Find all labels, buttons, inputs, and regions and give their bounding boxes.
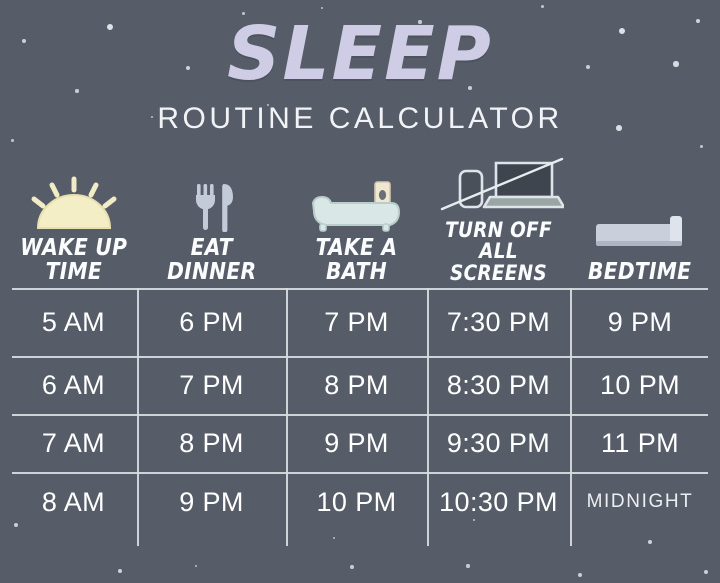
table-row: 5 AM 6 PM 7 PM 7:30 PM 9 PM <box>10 288 710 356</box>
table-cell: 7 PM <box>286 288 427 356</box>
table-cell: 6 PM <box>137 288 286 356</box>
table-cell: 8:30 PM <box>427 356 570 414</box>
table-cell: 7 PM <box>137 356 286 414</box>
star-dot <box>578 573 582 577</box>
table-row: 8 AM 9 PM 10 PM 10:30 PM MIDNIGHT <box>10 472 710 532</box>
column-header-row: WAKE UPTIME EATDINNER <box>10 160 710 286</box>
star-dot <box>321 7 324 10</box>
table-cell: 8 PM <box>137 414 286 472</box>
table-cell: 11 PM <box>570 414 710 472</box>
table-cell: 9:30 PM <box>427 414 570 472</box>
table-row: 6 AM 7 PM 8 PM 8:30 PM 10 PM <box>10 356 710 414</box>
column-header-label: WAKE UPTIME <box>20 237 127 284</box>
sun-icon <box>22 174 126 232</box>
table-cell: 9 PM <box>137 472 286 532</box>
column-header-take-a-bath: TAKE ABATH <box>286 160 427 286</box>
table-cell: 10 PM <box>286 472 427 532</box>
table-cell: 7 AM <box>10 414 137 472</box>
table-row: 7 AM 8 PM 9 PM 9:30 PM 11 PM <box>10 414 710 472</box>
table-cell: 7:30 PM <box>427 288 570 356</box>
table-cell: MIDNIGHT <box>570 472 710 532</box>
star-dot <box>704 570 708 574</box>
star-dot <box>350 565 354 569</box>
table-cell: 5 AM <box>10 288 137 356</box>
table-cell: 9 PM <box>570 288 710 356</box>
star-dot <box>11 139 14 142</box>
column-header-eat-dinner: EATDINNER <box>137 160 286 286</box>
no-screens-icon <box>434 157 564 215</box>
bed-icon <box>590 198 690 256</box>
star-dot <box>118 569 122 573</box>
schedule-table: 5 AM 6 PM 7 PM 7:30 PM 9 PM 6 AM 7 PM 8 … <box>10 288 710 546</box>
table-cell: 10:30 PM <box>427 472 570 532</box>
star-dot <box>195 565 198 568</box>
table-cell: 9 PM <box>286 414 427 472</box>
star-dot <box>466 564 469 567</box>
page-title: SLEEP <box>0 14 720 94</box>
column-header-label: BEDTIME <box>588 261 691 284</box>
column-header-turn-off-screens: TURN OFFALL SCREENS <box>427 160 570 286</box>
column-header-label: TURN OFFALL SCREENS <box>436 220 562 284</box>
column-header-wake-up-time: WAKE UPTIME <box>10 160 137 286</box>
table-cell: 8 AM <box>10 472 137 532</box>
star-dot <box>700 145 703 148</box>
star-dot <box>541 5 544 8</box>
column-header-label: TAKE ABATH <box>316 237 398 284</box>
table-cell: 8 PM <box>286 356 427 414</box>
table-cell: 6 AM <box>10 356 137 414</box>
sleep-routine-poster: SLEEP ROUTINE CALCULATOR WAKE UPTIME <box>0 0 720 583</box>
column-header-bedtime: BEDTIME <box>570 160 710 286</box>
title-block: SLEEP ROUTINE CALCULATOR <box>0 14 720 136</box>
bathtub-icon <box>303 174 411 232</box>
column-header-label: EATDINNER <box>167 237 256 284</box>
page-subtitle: ROUTINE CALCULATOR <box>0 102 720 136</box>
table-cell: 10 PM <box>570 356 710 414</box>
fork-knife-icon <box>183 174 241 232</box>
